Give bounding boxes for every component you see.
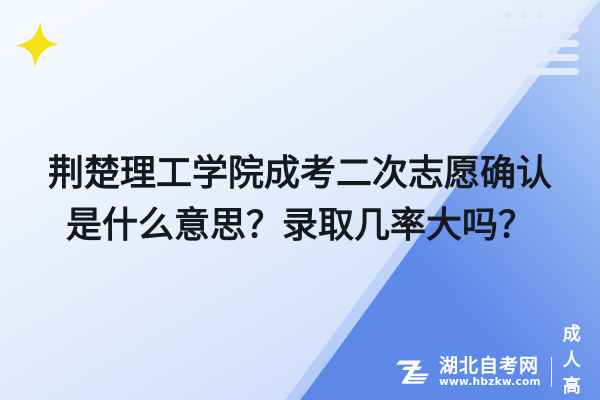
decorative-bar <box>497 40 579 47</box>
decorative-bar <box>497 26 579 33</box>
decorative-bar <box>497 54 579 61</box>
decorative-bar <box>497 68 579 75</box>
decorative-lines-motif <box>497 12 579 82</box>
banner-root: 荆楚理工学院成考二次志愿确认 是什么意思？录取几率大吗？ 湖北自考网 www.h… <box>0 0 600 400</box>
brand-name: 湖北自考网 <box>439 356 541 376</box>
decorative-dot <box>537 12 544 19</box>
hbzkw-logo-mark-icon <box>396 357 432 387</box>
page-title-line-1: 荆楚理工学院成考二次志愿确认 <box>0 148 600 200</box>
decorative-dot <box>521 12 528 19</box>
star-sparkle-icon <box>14 20 60 70</box>
page-title: 荆楚理工学院成考二次志愿确认 是什么意思？录取几率大吗？ <box>0 148 600 252</box>
decorative-dot <box>505 12 512 19</box>
brand-lockup: 湖北自考网 www.hbzkw.com 成人高考 <box>396 352 600 392</box>
decorative-dots-row <box>505 12 579 19</box>
brand-text-block: 湖北自考网 www.hbzkw.com <box>439 355 541 389</box>
page-title-line-2: 是什么意思？录取几率大吗？ <box>0 200 600 252</box>
brand-tagline: 成人高考 <box>563 320 600 400</box>
brand-divider <box>551 357 552 387</box>
brand-url: www.hbzkw.com <box>439 376 541 389</box>
